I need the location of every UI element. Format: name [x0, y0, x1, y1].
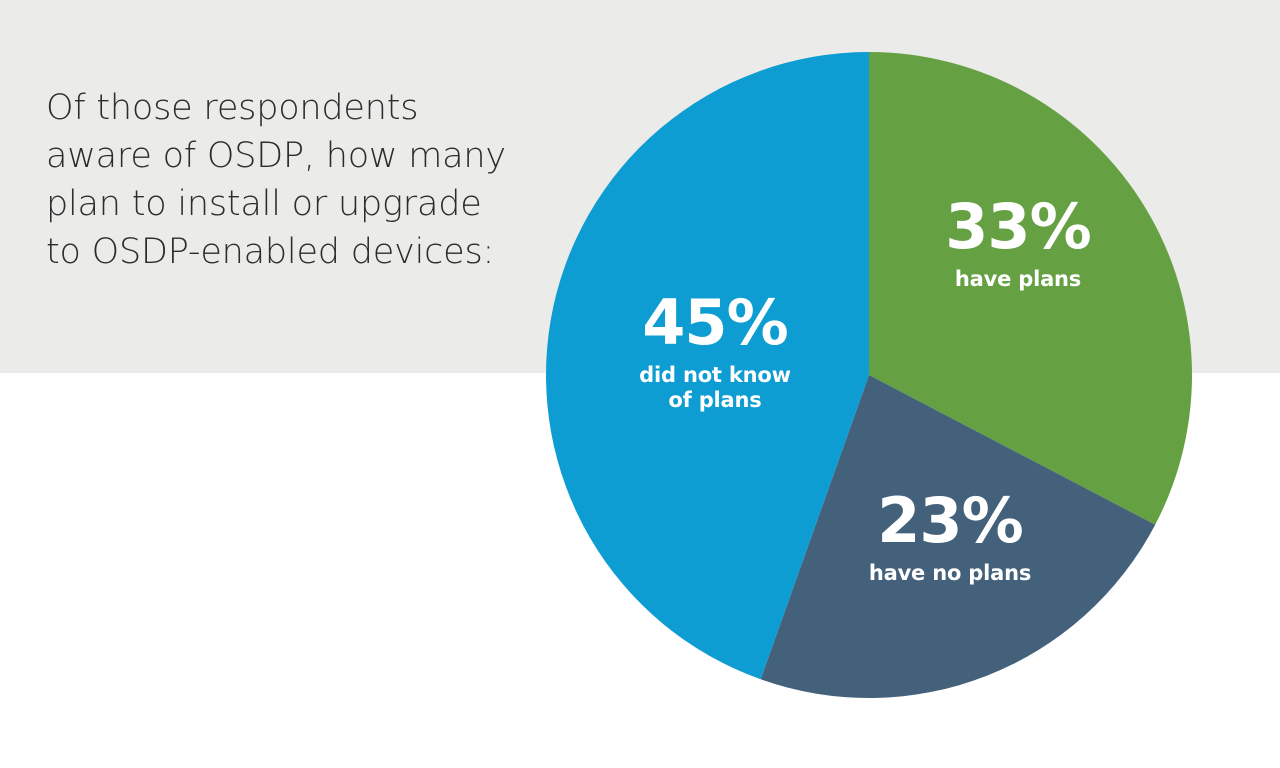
- page-title: Of those respondents aware of OSDP, how …: [46, 84, 546, 276]
- pie-slices: [546, 52, 1192, 698]
- infographic-canvas: Of those respondents aware of OSDP, how …: [0, 0, 1280, 768]
- pie-chart: [546, 52, 1192, 698]
